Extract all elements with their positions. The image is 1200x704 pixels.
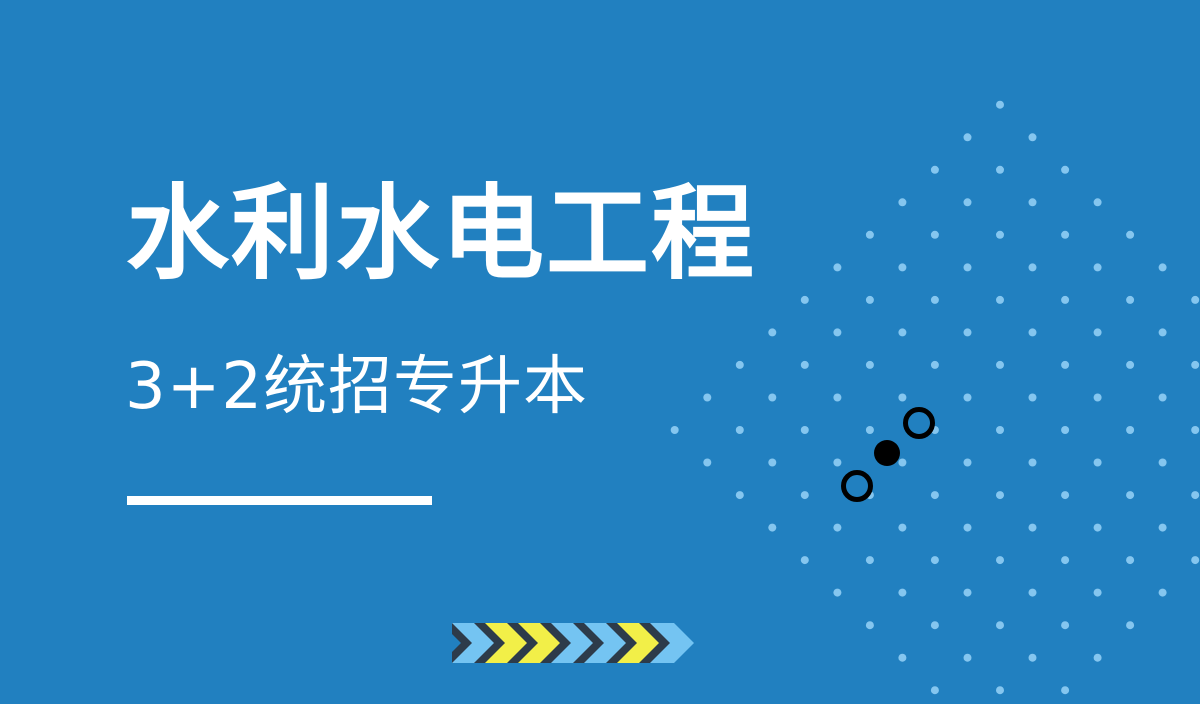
pattern-dot (1029, 133, 1037, 141)
pattern-dot (768, 524, 776, 532)
pattern-dot (996, 426, 1004, 434)
pattern-dot (964, 198, 972, 206)
pattern-dot (833, 328, 841, 336)
pattern-dot (1094, 263, 1102, 271)
pattern-dot (1029, 263, 1037, 271)
pattern-dot (866, 556, 874, 564)
pattern-dot (1061, 491, 1069, 499)
pattern-dot (1029, 654, 1037, 662)
pattern-dot (801, 556, 809, 564)
pattern-dot (801, 296, 809, 304)
pattern-dot (1061, 556, 1069, 564)
pattern-dot (964, 133, 972, 141)
pattern-dot (1126, 491, 1134, 499)
divider-rule (127, 496, 432, 505)
poster-canvas: 水利水电工程 3+2统招专升本 (0, 0, 1200, 704)
pattern-dot (1159, 394, 1167, 402)
pattern-dot (931, 621, 939, 629)
pattern-dot (866, 231, 874, 239)
pattern-dot (1061, 621, 1069, 629)
pattern-dot (736, 491, 744, 499)
pattern-dot (1126, 426, 1134, 434)
filled-circle-icon (874, 440, 900, 466)
pattern-dot (866, 426, 874, 434)
pattern-dot (703, 394, 711, 402)
pattern-dot (736, 426, 744, 434)
page-subtitle: 3+2统招专升本 (125, 355, 588, 419)
pattern-dot (768, 459, 776, 467)
page-title: 水利水电工程 (126, 183, 756, 286)
pattern-dot (898, 328, 906, 336)
pattern-dot (996, 621, 1004, 629)
pattern-dot (736, 361, 744, 369)
pattern-dot (1191, 296, 1199, 304)
pattern-dot (898, 263, 906, 271)
pattern-dot (898, 394, 906, 402)
pattern-dot (1029, 524, 1037, 532)
pattern-dot (1191, 426, 1199, 434)
pattern-dot (996, 556, 1004, 564)
pattern-dot (1061, 231, 1069, 239)
pattern-dot (1029, 198, 1037, 206)
pattern-dot (898, 459, 906, 467)
pattern-dot (833, 263, 841, 271)
pattern-dot (964, 328, 972, 336)
pattern-dot (1159, 459, 1167, 467)
pattern-dot (1094, 524, 1102, 532)
pattern-dot (996, 296, 1004, 304)
pattern-dot (1159, 524, 1167, 532)
pattern-dot (1159, 263, 1167, 271)
pattern-dot (866, 361, 874, 369)
pattern-dot (996, 686, 1004, 694)
ring-circle-icon (841, 470, 873, 502)
pattern-dot (801, 491, 809, 499)
pattern-dot (1126, 361, 1134, 369)
pattern-dot (1061, 296, 1069, 304)
pattern-dot (931, 686, 939, 694)
pattern-dot (866, 296, 874, 304)
pattern-dot (1061, 686, 1069, 694)
pattern-dot (898, 524, 906, 532)
pattern-dot (898, 654, 906, 662)
pattern-dot (1126, 231, 1134, 239)
pattern-dot (1094, 394, 1102, 402)
pattern-dot (833, 524, 841, 532)
pattern-dot (1029, 589, 1037, 597)
pattern-dot (931, 166, 939, 174)
pattern-dot (1061, 426, 1069, 434)
pattern-dot (1094, 198, 1102, 206)
pattern-dot (898, 198, 906, 206)
pattern-dot (1029, 459, 1037, 467)
pattern-dot (703, 459, 711, 467)
pattern-dot (931, 491, 939, 499)
pattern-dot (801, 426, 809, 434)
pattern-dot (964, 524, 972, 532)
pattern-dot (768, 328, 776, 336)
pattern-dot (931, 231, 939, 239)
ring-circle-icon (903, 407, 935, 439)
pattern-dot (1191, 556, 1199, 564)
pattern-dot (996, 491, 1004, 499)
pattern-dot (996, 101, 1004, 109)
pattern-dot (833, 394, 841, 402)
pattern-dot (1159, 328, 1167, 336)
pattern-dot (1191, 361, 1199, 369)
pattern-dot (1126, 296, 1134, 304)
pattern-dot (931, 556, 939, 564)
pattern-dot (833, 589, 841, 597)
pattern-dot (964, 263, 972, 271)
pattern-dot (898, 589, 906, 597)
pattern-dot (996, 361, 1004, 369)
pattern-dot (1094, 589, 1102, 597)
pattern-dot (964, 459, 972, 467)
pattern-dot (1126, 556, 1134, 564)
pattern-dot (1126, 621, 1134, 629)
pattern-dot (1029, 394, 1037, 402)
pattern-dot (833, 459, 841, 467)
pattern-dot (801, 361, 809, 369)
pattern-dot (1029, 328, 1037, 336)
pattern-dot (671, 426, 679, 434)
pattern-dot (931, 361, 939, 369)
pattern-dot (964, 589, 972, 597)
pattern-dot (866, 621, 874, 629)
pattern-dot (1061, 166, 1069, 174)
pattern-dot (996, 166, 1004, 174)
pattern-dot (1094, 654, 1102, 662)
pattern-dot (931, 296, 939, 304)
pattern-dot (1159, 589, 1167, 597)
pattern-dot (1094, 459, 1102, 467)
chevron-strip (452, 616, 702, 670)
pattern-dot (1061, 361, 1069, 369)
pattern-dot (996, 231, 1004, 239)
pattern-dot (964, 654, 972, 662)
pattern-dot (964, 394, 972, 402)
pattern-dot (1094, 328, 1102, 336)
pattern-dot (1191, 491, 1199, 499)
pattern-dot (768, 394, 776, 402)
